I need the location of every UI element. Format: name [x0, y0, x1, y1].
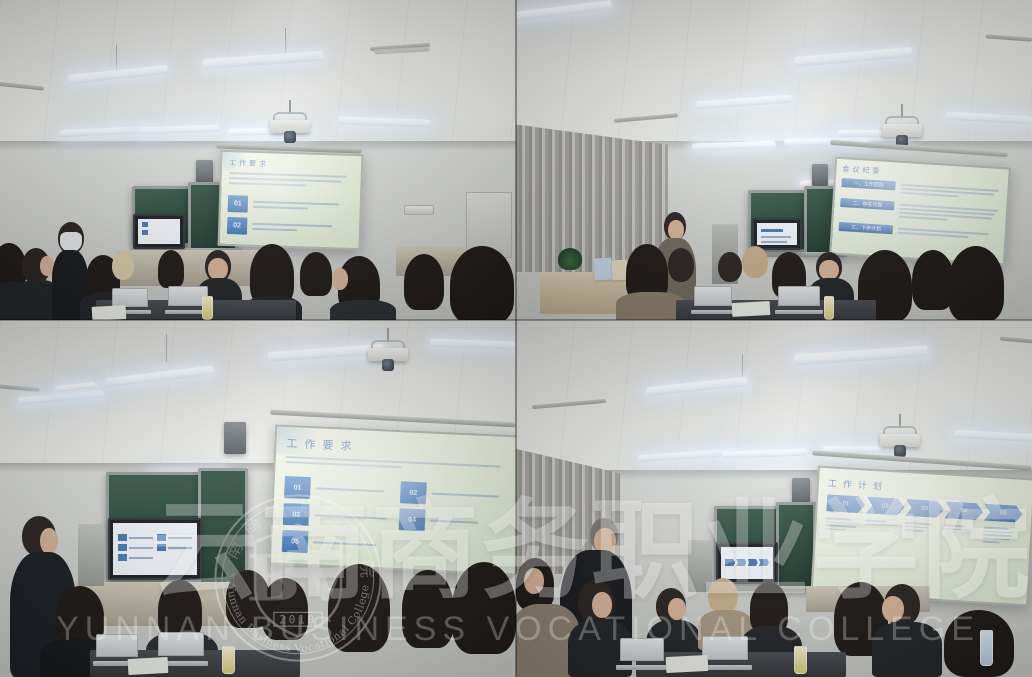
- process-caption: [982, 525, 1021, 547]
- speaker: [812, 164, 828, 186]
- slide-list-item: 05: [282, 530, 391, 557]
- panel-top-left: 工作要求 01 02: [0, 0, 516, 320]
- speaker: [196, 160, 213, 184]
- student-head: [948, 246, 1004, 320]
- student-head: [158, 250, 184, 288]
- process-caption: [904, 520, 943, 542]
- student-head: [708, 578, 738, 614]
- wall-panel: [404, 205, 434, 215]
- student-head: [262, 578, 308, 640]
- slide-list-item: 02: [400, 481, 509, 508]
- papers: [666, 655, 709, 673]
- student-head: [668, 248, 694, 282]
- slide-item-number: 01: [284, 476, 311, 499]
- slide-column: 01 03 05: [281, 476, 393, 562]
- chalkboard-wing: [198, 468, 248, 588]
- panel-top-right: 会议纪要 一、工作回顾 二、存在问题: [516, 0, 1032, 320]
- papers: [732, 301, 771, 317]
- process-step: 03: [905, 499, 944, 518]
- slide-item-number: 04: [399, 508, 426, 531]
- student-head: [742, 246, 768, 278]
- student-head: [452, 562, 516, 654]
- slide-tab-label: 三、下步计划: [839, 222, 894, 234]
- slide-item-number: 03: [283, 503, 310, 526]
- slide-column: 02 04: [397, 481, 509, 567]
- slide-tab-row: 三、下步计划: [839, 222, 999, 242]
- projection-screen: 工作要求 01 03: [269, 424, 516, 575]
- papers: [92, 305, 127, 320]
- slide-item-number: 02: [227, 217, 248, 235]
- slide-item-number: 01: [228, 195, 249, 213]
- laptop: [620, 638, 664, 670]
- slide-tab-label: 二、存在问题: [840, 198, 895, 210]
- process-caption: [864, 518, 903, 540]
- student-head: [158, 580, 202, 640]
- slide-list-item: 02: [227, 217, 353, 238]
- wall-tv: [133, 214, 185, 249]
- speaker: [224, 422, 246, 454]
- laptop: [778, 286, 820, 314]
- drink-cup: [824, 296, 834, 320]
- equipment-rack: [688, 540, 712, 592]
- process-caption: [943, 522, 982, 544]
- slide-list-item: 01: [228, 195, 354, 216]
- photo-collage: 工作要求 01 02: [0, 0, 1032, 677]
- collage-seam-horizontal: [0, 319, 1032, 321]
- drink-cup: [222, 646, 235, 674]
- slide-item-number: 02: [400, 481, 427, 504]
- speaker: [792, 478, 810, 504]
- water-bottle: [980, 630, 993, 666]
- projector: [366, 328, 410, 376]
- drink-cup: [202, 296, 213, 320]
- process-step: 02: [866, 497, 905, 516]
- student-head: [300, 252, 332, 296]
- process-step: 01: [826, 494, 865, 513]
- equipment-rack: [78, 524, 104, 586]
- process-caption: [825, 515, 864, 537]
- slide-tab-label: 一、工作回顾: [841, 178, 896, 190]
- student-head: [402, 570, 454, 648]
- student-head: [944, 610, 1014, 677]
- wall-tv: [108, 518, 202, 580]
- laptop: [694, 286, 732, 314]
- drink-cup: [794, 646, 807, 674]
- papers: [128, 657, 169, 675]
- slide-list-item: 04: [399, 508, 508, 535]
- projector: [268, 100, 312, 146]
- plant: [558, 248, 582, 270]
- wall-tv: [752, 218, 802, 250]
- laptop: [702, 636, 748, 670]
- student-head: [328, 564, 390, 652]
- collage-seam-vertical: [515, 0, 517, 677]
- process-step: 05: [984, 504, 1023, 523]
- panel-bottom-left: 工作要求 01 03: [0, 320, 516, 677]
- student-head: [450, 246, 514, 320]
- projection-screen: 工作要求 01 02: [218, 150, 364, 250]
- process-step: 04: [944, 501, 983, 520]
- chalkboard-wing: [776, 502, 816, 590]
- slide-tab-row: 二、存在问题: [840, 198, 1001, 226]
- panel-bottom-right: 工作计划 01 02 03 04 05: [516, 320, 1032, 677]
- student-head: [112, 252, 134, 280]
- slide-item-number: 05: [282, 530, 309, 553]
- student-head: [718, 252, 742, 282]
- slide-list-item: 01: [284, 476, 393, 503]
- student-head: [404, 254, 444, 310]
- slide-list-item: 03: [283, 503, 392, 530]
